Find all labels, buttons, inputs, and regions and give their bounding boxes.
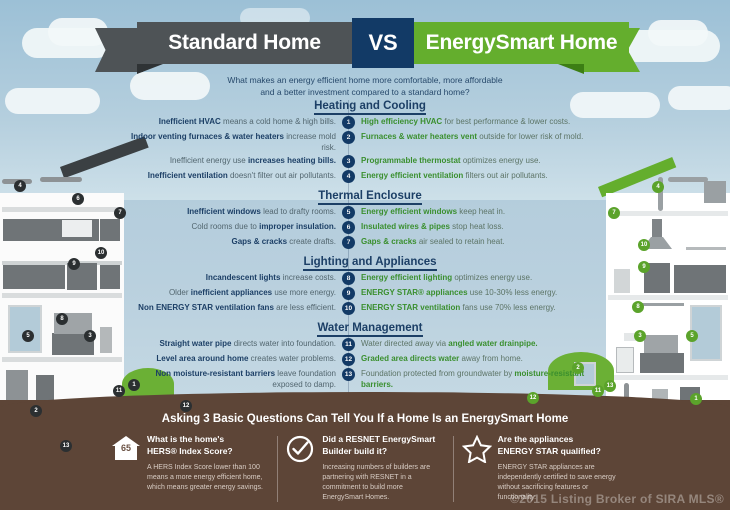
comparison-section: Water ManagementStraight water pipe dire… [128, 322, 612, 390]
es-basement-floor [608, 375, 728, 380]
comparison-section: Lighting and AppliancesIncandescent ligh… [128, 256, 612, 315]
lower-cabinets [3, 265, 65, 289]
es-television [644, 335, 678, 353]
es-marker-13: 13 [604, 380, 616, 392]
es-marker-3: 3 [634, 330, 646, 342]
energysmart-home-item: Foundation protected from groundwater by… [355, 368, 598, 390]
comparison-row: Older inefficient appliances use more en… [128, 287, 612, 300]
question-title-line-1: What is the home's [147, 434, 268, 446]
standard-home-item: Non ENERGY STAR ventilation fans are les… [128, 302, 342, 313]
comparison-row: Inefficient HVAC means a cold home & hig… [128, 116, 612, 129]
comparison-row: Cold rooms due to improper insulation.6I… [128, 221, 612, 234]
standard-marker-12: 12 [180, 400, 192, 412]
energysmart-home-item: Programmable thermostat optimizes energy… [355, 155, 598, 166]
standard-home-item: Incandescent lights increase costs. [128, 272, 342, 283]
es-marker-8: 8 [632, 301, 644, 313]
es-marker-2: 2 [572, 362, 584, 374]
attic-floor [2, 207, 122, 212]
energysmart-home-item: Gaps & cracks air sealed to retain heat. [355, 236, 598, 247]
section-rows: Inefficient windows lead to drafty rooms… [128, 206, 612, 249]
microwave [62, 220, 92, 237]
es-hvac-unit [704, 181, 726, 203]
question-title-line-1: Did a RESNET EnergySmart [322, 434, 443, 446]
energysmart-home-item: Energy efficient windows keep heat in. [355, 206, 598, 217]
standard-marker-5: 5 [22, 330, 34, 342]
main-floor [2, 293, 122, 298]
standard-marker-8: 8 [56, 313, 68, 325]
comparison-row: Level area around home creates water pro… [128, 353, 612, 366]
standard-marker-7: 7 [114, 207, 126, 219]
comparison-row: Inefficient ventilation doesn't filter o… [128, 170, 612, 183]
es-tv-unit [640, 353, 684, 373]
comparison-row: Non moisture-resistant barriers leave fo… [128, 368, 612, 390]
vs-label: VS [369, 30, 398, 56]
section-title-text: Water Management [317, 322, 422, 337]
question-title-line-2: ENERGY STAR qualified? [498, 446, 619, 458]
watermark-text: ©2015 Listing Broker of SIRA MLS® [510, 492, 724, 506]
es-chair [616, 347, 634, 373]
energysmart-home-item: Furnaces & water heaters vent outside fo… [355, 131, 598, 142]
standard-home-item: Gaps & cracks create drafts. [128, 236, 342, 247]
house-score-icon: 65 [111, 434, 145, 503]
standard-marker-13: 13 [60, 440, 72, 452]
energysmart-home-item: High efficiency HVAC for best performanc… [355, 116, 598, 127]
comparison-row: Gaps & cracks create drafts.7Gaps & crac… [128, 236, 612, 249]
question-title-line-2: HERS® Index Score? [147, 446, 268, 458]
energysmart-home-item: Energy efficient ventilation filters out… [355, 170, 598, 181]
standard-window [8, 305, 42, 353]
energysmart-home-item: Graded area directs water away from home… [355, 353, 598, 364]
energysmart-home-item: ENERGY STAR® appliances use 10-30% less … [355, 287, 598, 298]
infographic-page: Standard Home VS EnergySmart Home What m… [0, 0, 730, 510]
question-body: Did a RESNET EnergySmartBuilder build it… [320, 434, 443, 503]
basement-floor [2, 357, 122, 362]
es-cabinets [674, 265, 726, 293]
section-title: Thermal Enclosure [128, 190, 612, 202]
question-title-line-1: Are the appliances [498, 434, 619, 446]
energysmart-home-label: EnergySmart Home [426, 31, 618, 55]
standard-marker-4: 4 [14, 180, 26, 192]
standard-home-item: Inefficient energy use increases heating… [128, 155, 342, 166]
cloud-6 [648, 20, 708, 46]
standard-home-banner: Standard Home [137, 22, 352, 64]
es-marker-12: 12 [527, 392, 539, 404]
section-rows: Inefficient HVAC means a cold home & hig… [128, 116, 612, 183]
plant-shelf [686, 247, 726, 250]
comparison-list: Heating and CoolingInefficient HVAC mean… [128, 100, 612, 400]
question-body: What is the home'sHERS® Index Score?A HE… [145, 434, 268, 503]
subheading: What makes an energy efficient home more… [0, 74, 730, 98]
comparison-row: Inefficient windows lead to drafty rooms… [128, 206, 612, 219]
energysmart-home-item: Water directed away via angled water dra… [355, 338, 598, 349]
comparison-section: Thermal EnclosureInefficient windows lea… [128, 190, 612, 249]
comparison-row: Indoor venting furnaces & water heaters … [128, 131, 612, 153]
energysmart-home-item: Insulated wires & pipes stop heat loss. [355, 221, 598, 232]
es-marker-7: 7 [608, 207, 620, 219]
standard-marker-9: 9 [68, 258, 80, 270]
question-description: A HERS Index Score lower than 100 means … [147, 463, 268, 493]
section-rows: Incandescent lights increase costs.8Ener… [128, 272, 612, 315]
subheading-line-2: and a better investment compared to a st… [0, 86, 730, 98]
section-title: Lighting and Appliances [128, 256, 612, 268]
section-rows: Straight water pipe directs water into f… [128, 338, 612, 390]
header-ribbon: Standard Home VS EnergySmart Home [95, 22, 640, 72]
standard-home-item: Inefficient windows lead to drafty rooms… [128, 206, 342, 217]
standard-home-item: Non moisture-resistant barriers leave fo… [128, 368, 342, 390]
es-marker-9: 9 [638, 261, 650, 273]
standard-home-illustration: 4 6 7 10 9 8 3 5 11 2 [0, 175, 128, 405]
vs-badge: VS [352, 18, 414, 68]
standard-home-item: Indoor venting furnaces & water heaters … [128, 131, 342, 153]
standard-marker-2: 2 [30, 405, 42, 417]
upper-cabinet-right [100, 219, 120, 241]
standard-marker-10: 10 [95, 247, 107, 259]
question-column: 65What is the home'sHERS® Index Score?A … [102, 434, 277, 503]
bottom-heading: Asking 3 Basic Questions Can Tell You If… [80, 413, 650, 425]
chair [100, 327, 112, 353]
energysmart-home-illustration: 4 7 10 9 8 3 5 13 1 [600, 175, 730, 405]
standard-marker-3: 3 [84, 330, 96, 342]
es-attic-floor [608, 211, 728, 216]
energysmart-home-banner: EnergySmart Home [414, 22, 629, 64]
standard-home-item: Straight water pipe directs water into f… [128, 338, 342, 349]
standard-marker-1: 1 [128, 379, 140, 391]
standard-home-item: Level area around home creates water pro… [128, 353, 342, 364]
es-marker-10: 10 [638, 239, 650, 251]
comparison-row: Non ENERGY STAR ventilation fans are les… [128, 302, 612, 315]
question-title-line-2: Builder build it? [322, 446, 443, 458]
es-marker-1: 1 [690, 393, 702, 405]
standard-duct-2 [40, 177, 82, 182]
section-title: Heating and Cooling [128, 100, 612, 112]
check-circle-icon [286, 434, 320, 503]
es-duct-2 [668, 177, 708, 182]
energysmart-home-item: Energy efficient lighting optimizes ener… [355, 272, 598, 283]
hers-score-value: 65 [111, 443, 141, 453]
section-title-text: Lighting and Appliances [303, 256, 436, 271]
es-marker-5: 5 [686, 330, 698, 342]
track-lighting [640, 303, 684, 306]
standard-home-item: Cold rooms due to improper insulation. [128, 221, 342, 232]
subheading-line-1: What makes an energy efficient home more… [0, 74, 730, 86]
es-trash-bin [614, 269, 630, 293]
question-column: Did a RESNET EnergySmartBuilder build it… [277, 434, 452, 503]
standard-home-item: Older inefficient appliances use more en… [128, 287, 342, 298]
es-marker-11: 11 [592, 385, 604, 397]
center-connector-line [348, 100, 349, 400]
section-title-text: Thermal Enclosure [318, 190, 422, 205]
energysmart-home-item: ENERGY STAR ventilation fans use 70% les… [355, 302, 598, 313]
section-title-text: Heating and Cooling [314, 100, 426, 115]
star-icon [462, 434, 496, 503]
standard-marker-6: 6 [72, 193, 84, 205]
comparison-row: Straight water pipe directs water into f… [128, 338, 612, 351]
standard-home-label: Standard Home [168, 31, 321, 55]
section-title: Water Management [128, 322, 612, 334]
ribbon-left-tail [95, 28, 143, 72]
es-marker-4: 4 [652, 181, 664, 193]
standard-home-item: Inefficient ventilation doesn't filter o… [128, 170, 342, 181]
comparison-row: Incandescent lights increase costs.8Ener… [128, 272, 612, 285]
comparison-row: Inefficient energy use increases heating… [128, 155, 612, 168]
standard-marker-11: 11 [113, 385, 125, 397]
comparison-section: Heating and CoolingInefficient HVAC mean… [128, 100, 612, 183]
water-heater [6, 370, 28, 404]
standard-home-item: Inefficient HVAC means a cold home & hig… [128, 116, 342, 127]
es-main-floor [608, 295, 728, 300]
question-description: Increasing numbers of builders are partn… [322, 463, 443, 503]
lower-cabinet-right [100, 265, 120, 289]
